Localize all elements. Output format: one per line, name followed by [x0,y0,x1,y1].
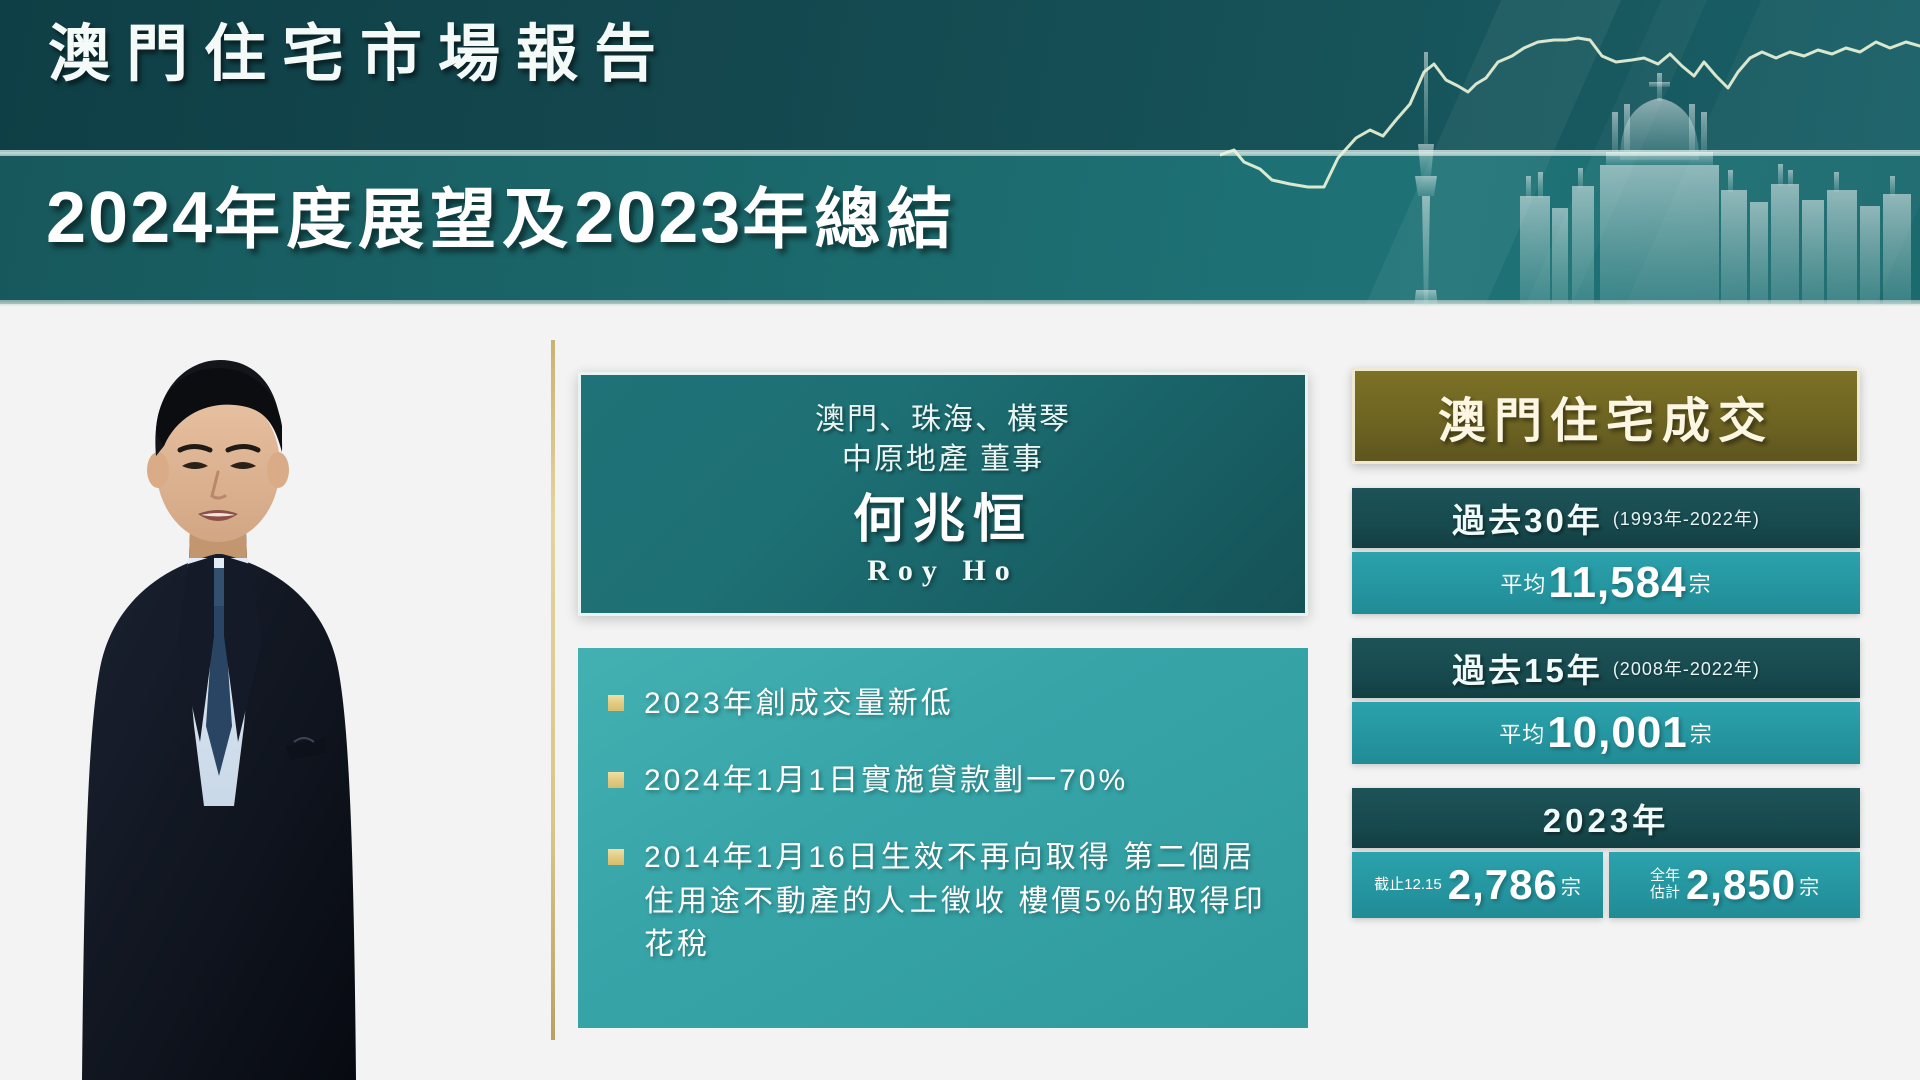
transactions-stats-panel: 澳門住宅成交 過去30年 (1993年-2022年) 平均 11,584 宗 過… [1352,368,1860,918]
stat-head-label: 過去30年 [1452,494,1603,542]
stat-block-past-15-years: 過去15年 (2008年-2022年) 平均 10,001 宗 [1352,638,1860,764]
stat-cell-label: 截止12.15 [1374,877,1442,894]
gold-square-bullet-icon [608,849,624,865]
stats-panel-title: 澳門住宅成交 [1352,368,1860,464]
gold-square-bullet-icon [608,695,624,711]
stat-cell-number: 2,786 [1448,861,1558,909]
stat-head-range: (2008年-2022年) [1613,655,1760,681]
subtitle-mid-text: 年度展望及 [214,182,574,256]
bullet-text: 2023年創成交量新低 [644,682,954,725]
slide-header: 澳門住宅市場報告 2024年度展望及2023年總結 [0,0,1920,306]
stat-head: 過去15年 (2008年-2022年) [1352,638,1860,698]
stat-cell-label: 全年 估計 [1650,868,1680,902]
gold-square-bullet-icon [608,772,624,788]
bullet-text: 2024年1月1日實施貸款劃一70% [644,759,1128,802]
stat-value-unit: 宗 [1689,567,1712,599]
ruins-of-st-pauls-icon [1600,73,1719,306]
stat-head: 過去30年 (1993年-2022年) [1352,488,1860,548]
stat-head-label: 過去15年 [1452,644,1603,692]
stat-value-row: 平均 11,584 宗 [1352,552,1860,614]
page-title: 澳門住宅市場報告 [48,24,672,86]
list-item: 2014年1月16日生效不再向取得 第二個居住用途不動產的人士徵收 樓價5%的取… [608,836,1282,966]
presenter-org-line-2: 中原地產 董事 [842,440,1044,480]
header-artwork [1220,0,1920,306]
stat-value-number: 10,001 [1547,708,1688,758]
stat-split-row: 截止12.15 2,786 宗 全年 估計 2,850 宗 [1352,852,1860,918]
stat-value-row: 平均 10,001 宗 [1352,702,1860,764]
slide-root: 澳門住宅市場報告 2024年度展望及2023年總結 [0,0,1920,1080]
stat-cell-ytd: 截止12.15 2,786 宗 [1352,852,1603,918]
stat-value-prefix: 平均 [1500,567,1546,599]
presenter-photo [38,306,458,1080]
presenter-name-en: Roy Ho [867,554,1019,588]
stat-block-past-30-years: 過去30年 (1993年-2022年) 平均 11,584 宗 [1352,488,1860,614]
stats-panel-title-text: 澳門住宅成交 [1438,381,1774,451]
stat-value-unit: 宗 [1690,717,1713,749]
stat-cell-unit: 宗 [1799,871,1819,900]
stat-cell-unit: 宗 [1561,871,1581,900]
presenter-org-line-1: 澳門、珠海、橫琴 [815,400,1071,440]
gold-vertical-divider [551,340,555,1040]
bullet-text: 2014年1月16日生效不再向取得 第二個居住用途不動產的人士徵收 樓價5%的取… [644,836,1282,966]
stat-head-label: 2023年 [1543,794,1669,842]
presenter-name-card: 澳門、珠海、橫琴 中原地產 董事 何兆恒 Roy Ho [578,372,1308,616]
subtitle-tail-text: 年總結 [742,182,958,256]
list-item: 2024年1月1日實施貸款劃一70% [608,759,1282,802]
subtitle-year-2023: 2023 [574,178,742,258]
stat-head: 2023年 [1352,788,1860,848]
page-subtitle: 2024年度展望及2023年總結 [46,182,958,254]
market-trend-line-chart [1220,38,1920,187]
stat-cell-full-year-estimate: 全年 估計 2,850 宗 [1609,852,1860,918]
list-item: 2023年創成交量新低 [608,682,1282,725]
stat-head-range: (1993年-2022年) [1613,505,1760,531]
key-points-panel: 2023年創成交量新低 2024年1月1日實施貸款劃一70% 2014年1月16… [578,648,1308,1028]
presenter-name-zh: 何兆恒 [853,494,1033,546]
stat-block-2023: 2023年 截止12.15 2,786 宗 全年 估計 2,850 宗 [1352,788,1860,918]
subtitle-year-2024: 2024 [46,178,214,258]
stat-cell-number: 2,850 [1686,861,1796,909]
stat-value-number: 11,584 [1548,558,1686,608]
stat-value-prefix: 平均 [1499,717,1545,749]
